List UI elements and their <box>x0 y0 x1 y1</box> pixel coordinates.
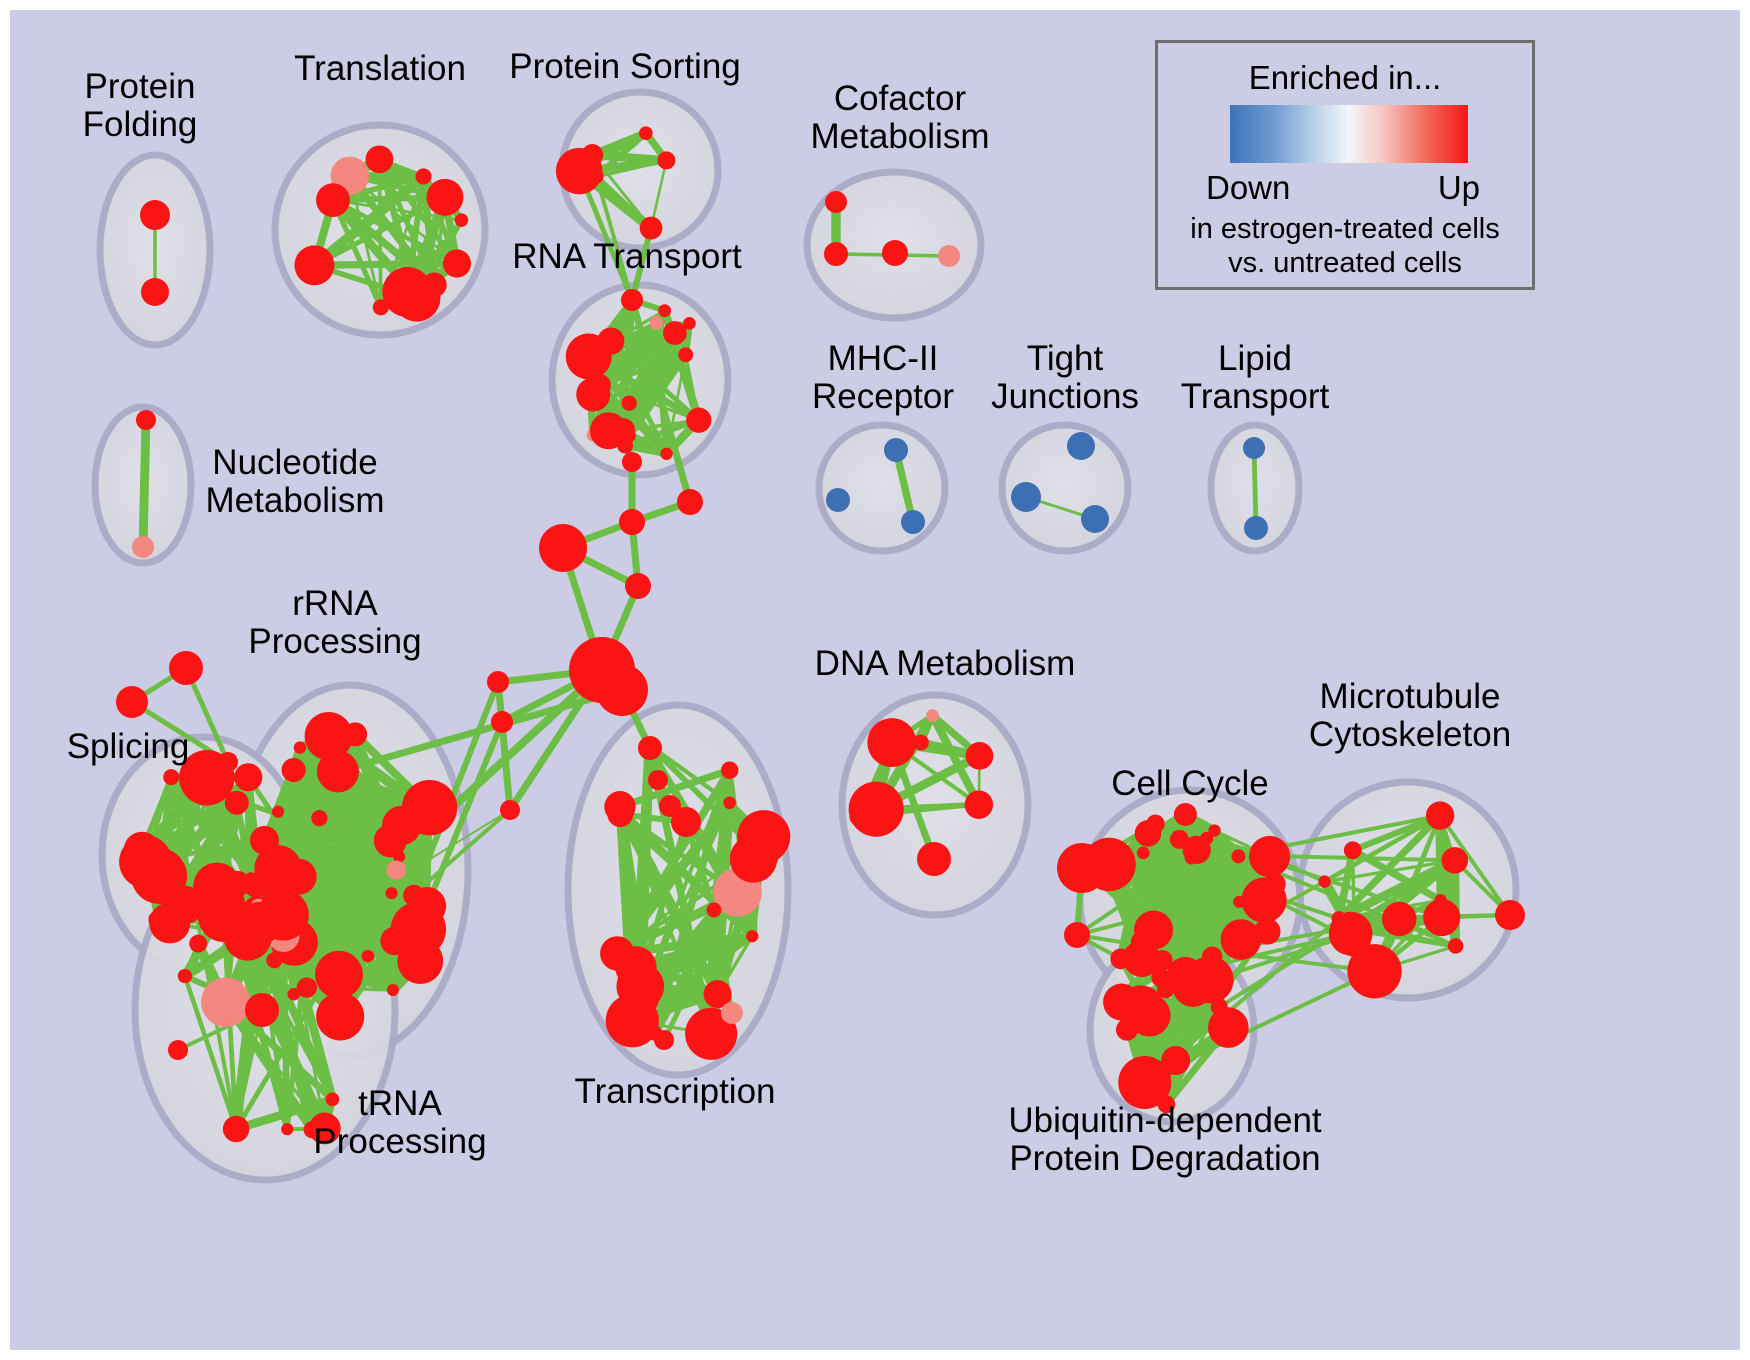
network-node[interactable] <box>1208 973 1220 985</box>
network-node[interactable] <box>169 651 203 685</box>
cluster-label-splicing: Splicing <box>67 728 190 766</box>
network-node[interactable] <box>1174 803 1197 826</box>
network-node[interactable] <box>415 168 431 184</box>
network-node[interactable] <box>625 573 651 599</box>
network-node[interactable] <box>136 410 156 430</box>
network-node[interactable] <box>1382 902 1416 936</box>
cluster-ellipse-mhc-ii-receptor <box>819 425 945 551</box>
network-node[interactable] <box>393 274 440 321</box>
network-node[interactable] <box>581 144 603 166</box>
network-node[interactable] <box>867 718 916 767</box>
network-node[interactable] <box>316 992 364 1040</box>
cluster-label-rrna-processing: rRNA Processing <box>248 585 421 661</box>
network-node[interactable] <box>657 151 675 169</box>
network-node[interactable] <box>148 910 166 928</box>
cluster-label-transcription: Transcription <box>575 1073 776 1111</box>
network-node[interactable] <box>926 709 939 722</box>
network-node[interactable] <box>616 963 664 1011</box>
network-node[interactable] <box>311 810 327 826</box>
network-node[interactable] <box>638 736 662 760</box>
legend-title: Enriched in... <box>1158 59 1532 97</box>
network-node[interactable] <box>1011 482 1041 512</box>
cluster-label-cell-cycle: Cell Cycle <box>1111 765 1269 803</box>
network-node[interactable] <box>287 988 300 1001</box>
network-node[interactable] <box>611 418 635 442</box>
network-node[interactable] <box>426 179 463 216</box>
cluster-label-ubiquitin-protein-degradation: Ubiquitin-dependent Protein Degradation <box>1008 1102 1321 1178</box>
network-node[interactable] <box>1146 815 1165 834</box>
network-node[interactable] <box>387 984 399 996</box>
legend-caption-line1: in estrogen-treated cells <box>1158 213 1532 246</box>
network-node[interactable] <box>397 938 443 984</box>
cluster-label-translation: Translation <box>294 50 466 88</box>
network-node[interactable] <box>218 752 238 772</box>
network-node[interactable] <box>663 321 687 345</box>
network-node[interactable] <box>1342 920 1359 937</box>
network-edge <box>143 420 146 547</box>
network-node[interactable] <box>589 169 604 184</box>
network-node[interactable] <box>619 509 645 535</box>
network-node[interactable] <box>1249 836 1290 877</box>
legend-colorbar <box>1230 105 1468 163</box>
network-node[interactable] <box>455 213 469 227</box>
network-node[interactable] <box>849 807 868 826</box>
network-node[interactable] <box>1137 847 1150 860</box>
network-node[interactable] <box>385 887 397 899</box>
network-node[interactable] <box>1067 432 1095 460</box>
cluster-label-microtubule-cytoskeleton: Microtubule Cytoskeleton <box>1309 678 1511 754</box>
network-node[interactable] <box>622 396 637 411</box>
network-node[interactable] <box>282 758 306 782</box>
network-node[interactable] <box>366 145 394 173</box>
network-node[interactable] <box>965 790 993 818</box>
cluster-label-rna-transport: RNA Transport <box>512 238 742 276</box>
network-node[interactable] <box>678 347 693 362</box>
network-node[interactable] <box>1221 919 1262 960</box>
network-node[interactable] <box>316 183 350 217</box>
network-node[interactable] <box>686 408 711 433</box>
network-node[interactable] <box>382 806 421 845</box>
network-node[interactable] <box>116 686 148 718</box>
network-node[interactable] <box>966 742 994 770</box>
network-node[interactable] <box>223 1116 249 1142</box>
network-node[interactable] <box>1157 981 1174 998</box>
network-node[interactable] <box>1495 900 1525 930</box>
legend-down-label: Down <box>1206 169 1290 207</box>
network-node[interactable] <box>254 845 301 892</box>
network-node[interactable] <box>1442 847 1468 873</box>
figure-root: Protein FoldingTranslationProtein Sortin… <box>0 0 1750 1360</box>
network-node[interactable] <box>168 1040 188 1060</box>
network-node[interactable] <box>604 791 635 822</box>
network-node[interactable] <box>660 448 672 460</box>
network-node[interactable] <box>1244 516 1268 540</box>
network-node[interactable] <box>443 249 471 277</box>
network-node[interactable] <box>408 887 446 925</box>
network-node[interactable] <box>621 289 643 311</box>
network-node[interactable] <box>132 536 154 558</box>
network-node[interactable] <box>140 200 170 230</box>
network-node[interactable] <box>234 763 262 791</box>
network-node[interactable] <box>500 800 520 820</box>
network-node[interactable] <box>163 769 179 785</box>
network-node[interactable] <box>131 848 187 904</box>
network-node[interactable] <box>491 711 513 733</box>
cluster-label-nucleotide-metabolism: Nucleotide Metabolism <box>206 444 385 520</box>
cluster-label-tight-junctions: Tight Junctions <box>991 340 1139 416</box>
cluster-label-mhc-ii-receptor: MHC-II Receptor <box>812 340 954 416</box>
cluster-label-dna-metabolism: DNA Metabolism <box>815 645 1076 683</box>
network-node[interactable] <box>1057 843 1107 893</box>
network-node[interactable] <box>292 948 304 960</box>
network-node[interactable] <box>487 671 509 693</box>
network-node[interactable] <box>189 935 207 953</box>
network-node[interactable] <box>1185 851 1199 865</box>
network-node[interactable] <box>1103 984 1140 1021</box>
network-node[interactable] <box>141 278 169 306</box>
network-node[interactable] <box>281 1123 293 1135</box>
network-node[interactable] <box>622 452 642 472</box>
network-node[interactable] <box>1208 824 1220 836</box>
network-node[interactable] <box>1170 830 1189 849</box>
cluster-label-lipid-transport: Lipid Transport <box>1181 340 1329 416</box>
network-node[interactable] <box>1344 841 1362 859</box>
network-canvas: Protein FoldingTranslationProtein Sortin… <box>10 10 1740 1350</box>
network-node[interactable] <box>596 664 648 716</box>
legend-up-label: Up <box>1438 169 1480 207</box>
network-node[interactable] <box>294 245 334 285</box>
network-node[interactable] <box>650 316 664 330</box>
network-node[interactable] <box>721 762 738 779</box>
network-node[interactable] <box>683 317 696 330</box>
network-node[interactable] <box>648 770 668 790</box>
network-node[interactable] <box>658 304 671 317</box>
network-node[interactable] <box>1426 801 1454 829</box>
network-node[interactable] <box>723 796 736 809</box>
network-node[interactable] <box>1243 437 1265 459</box>
network-node[interactable] <box>639 126 653 140</box>
network-node[interactable] <box>826 488 850 512</box>
network-node[interactable] <box>266 952 282 968</box>
network-node[interactable] <box>707 903 722 918</box>
network-node[interactable] <box>917 842 951 876</box>
network-node[interactable] <box>1161 1046 1190 1075</box>
network-node[interactable] <box>387 860 406 879</box>
network-node[interactable] <box>315 951 363 999</box>
cluster-label-trna-processing: tRNA Processing <box>313 1085 486 1161</box>
network-node[interactable] <box>362 950 375 963</box>
network-node[interactable] <box>1081 505 1109 533</box>
network-node[interactable] <box>566 334 612 380</box>
network-node[interactable] <box>1448 938 1464 954</box>
network-node[interactable] <box>178 969 192 983</box>
network-node[interactable] <box>1208 1007 1249 1048</box>
network-edge <box>1254 448 1256 528</box>
network-node[interactable] <box>589 374 610 395</box>
network-node[interactable] <box>1144 1081 1161 1098</box>
network-node[interactable] <box>1064 922 1090 948</box>
network-node[interactable] <box>373 299 389 315</box>
network-node[interactable] <box>882 240 908 266</box>
network-node[interactable] <box>1231 849 1245 863</box>
network-node[interactable] <box>884 438 908 462</box>
network-node[interactable] <box>677 489 703 515</box>
network-node[interactable] <box>825 191 847 213</box>
network-node[interactable] <box>938 245 960 267</box>
network-node[interactable] <box>257 889 308 940</box>
network-node[interactable] <box>245 993 279 1027</box>
cluster-label-protein-folding: Protein Folding <box>83 68 198 144</box>
network-node[interactable] <box>198 891 249 942</box>
network-node[interactable] <box>654 1030 674 1050</box>
network-node[interactable] <box>721 1002 743 1024</box>
network-node[interactable] <box>1318 875 1330 887</box>
network-node[interactable] <box>201 978 250 1027</box>
network-node[interactable] <box>294 741 306 753</box>
cluster-label-protein-sorting: Protein Sorting <box>509 48 741 86</box>
cluster-label-cofactor-metabolism: Cofactor Metabolism <box>811 80 990 156</box>
legend-caption-line2: vs. untreated cells <box>1158 247 1532 280</box>
network-node[interactable] <box>1241 878 1286 923</box>
network-node[interactable] <box>305 712 353 760</box>
network-node[interactable] <box>901 510 925 534</box>
network-node[interactable] <box>743 837 779 873</box>
network-node[interactable] <box>671 807 701 837</box>
network-node[interactable] <box>913 734 929 750</box>
network-node[interactable] <box>1116 1019 1138 1041</box>
network-node[interactable] <box>1434 894 1446 906</box>
network-node[interactable] <box>539 524 587 572</box>
network-node[interactable] <box>272 806 284 818</box>
network-node[interactable] <box>746 930 758 942</box>
legend-panel: Enriched in... Down Up in estrogen-treat… <box>1155 40 1535 290</box>
network-node[interactable] <box>824 242 848 266</box>
